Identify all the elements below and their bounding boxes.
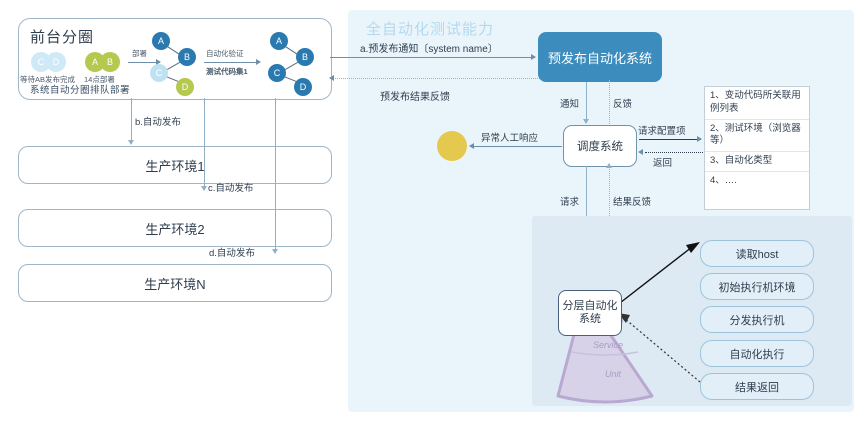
config-list-box: 1、变动代码所关联用例列表 2、测试环境（浏览器等） 3、自动化类型 4、…. bbox=[704, 86, 810, 210]
node-b-deploy: B bbox=[100, 52, 120, 72]
env2-arrow-label: c.自动发布 bbox=[208, 180, 253, 194]
deploy-arrow bbox=[128, 62, 160, 63]
tree1-node-c: C bbox=[150, 64, 168, 82]
step-box[interactable]: 初始执行机环境 bbox=[700, 273, 814, 300]
env2-arrow bbox=[204, 98, 205, 190]
front-stage-title: 前台分圈 bbox=[30, 26, 94, 47]
config-item: 3、自动化类型 bbox=[705, 152, 809, 172]
env1-arrow bbox=[131, 98, 132, 144]
step-box[interactable]: 分发执行机 bbox=[700, 306, 814, 333]
manual-response-arrow bbox=[470, 146, 562, 147]
read-host-arrow bbox=[612, 238, 708, 310]
request-config-arrow bbox=[639, 139, 701, 140]
env-box[interactable]: 生产环境1 bbox=[18, 146, 332, 184]
deploy-arrow-label: 部署 bbox=[132, 48, 147, 59]
env3-arrow bbox=[275, 98, 276, 253]
request-config-label: 请求配置项 bbox=[638, 123, 686, 137]
verify-arrow-label-bottom: 测试代码集1 bbox=[206, 66, 248, 77]
result-feedback-arrowhead bbox=[609, 164, 610, 168]
group2-label: 14点部署 bbox=[84, 74, 115, 85]
manual-response-label: 异常人工响应 bbox=[481, 130, 538, 144]
config-item: 4、…. bbox=[705, 172, 809, 191]
prepub-notice-label: a.预发布通知〔system name〕 bbox=[360, 40, 498, 55]
result-return-dotted-arrow bbox=[614, 310, 710, 386]
tree1-node-a: A bbox=[152, 32, 170, 50]
panel-title: 全自动化测试能力 bbox=[366, 18, 494, 39]
env-box[interactable]: 生产环境N bbox=[18, 264, 332, 302]
prepub-feedback-arrowhead bbox=[330, 78, 336, 79]
verify-arrow-label-top: 自动化验证 bbox=[206, 48, 244, 59]
scheduler-box[interactable]: 调度系统 bbox=[563, 125, 637, 167]
tree2-node-a: A bbox=[270, 32, 288, 50]
tree1-node-b: B bbox=[178, 48, 196, 66]
env-box[interactable]: 生产环境2 bbox=[18, 209, 332, 247]
env1-arrow-label: b.自动发布 bbox=[135, 114, 181, 128]
feedback-label: 反馈 bbox=[613, 96, 632, 110]
request-label: 请求 bbox=[560, 194, 579, 208]
verify-arrow bbox=[204, 62, 260, 63]
step-box[interactable]: 结果返回 bbox=[700, 373, 814, 400]
step-box[interactable]: 读取host bbox=[700, 240, 814, 267]
return-line bbox=[645, 152, 703, 153]
prepub-automation-system-box[interactable]: 预发布自动化系统 bbox=[538, 32, 662, 82]
config-item: 2、测试环境（浏览器等） bbox=[705, 120, 809, 153]
tree2-node-c: C bbox=[268, 64, 286, 82]
step-box[interactable]: 自动化执行 bbox=[700, 340, 814, 367]
env3-arrow-label: d.自动发布 bbox=[209, 245, 255, 259]
tree2-node-b: B bbox=[296, 48, 314, 66]
result-feedback-label: 结果反馈 bbox=[613, 194, 651, 208]
layered-automation-system-box[interactable]: 分层自动化系统 bbox=[558, 290, 622, 336]
return-arrowhead bbox=[639, 152, 645, 153]
tree2-node-d: D bbox=[294, 78, 312, 96]
feedback-line bbox=[609, 80, 610, 124]
notify-label: 通知 bbox=[560, 96, 579, 110]
manual-response-node bbox=[437, 131, 467, 161]
prepub-feedback-label: 预发布结果反馈 bbox=[380, 88, 450, 103]
config-item: 1、变动代码所关联用例列表 bbox=[705, 87, 809, 120]
return-label: 返回 bbox=[653, 155, 672, 169]
prepub-notice-arrow bbox=[330, 57, 535, 58]
diagram-canvas: 全自动化测试能力 前台分圈 系统自动分圈排队部署 C D 等待AB发布完成 A … bbox=[0, 0, 864, 422]
tree1-node-d: D bbox=[176, 78, 194, 96]
node-d-waiting: D bbox=[46, 52, 66, 72]
notify-arrow bbox=[586, 82, 587, 123]
group1-label: 等待AB发布完成 bbox=[20, 74, 75, 85]
